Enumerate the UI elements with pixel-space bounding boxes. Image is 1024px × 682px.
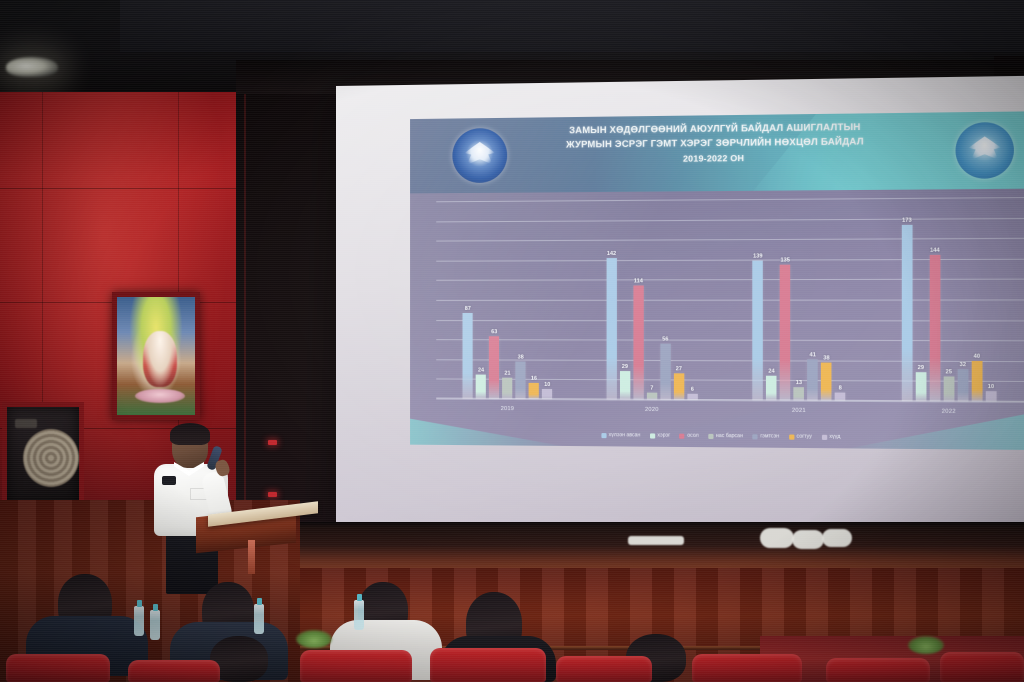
chart-bar-fill [674,373,684,400]
chart-bar-value: 10 [544,382,550,388]
chart-legend-item: согтуу [789,433,812,439]
chart-bar-value: 142 [607,251,616,257]
podium-stem [248,540,255,574]
stage-item-bag [822,529,852,547]
police-emblem-icon [452,128,507,183]
chart-bar-value: 6 [691,387,694,393]
chart-bar: 144 [929,198,940,402]
chart-bar: 27 [674,200,684,400]
chart-bar: 29 [915,198,926,402]
chart-bar-value: 7 [650,386,653,392]
indicator-led [268,440,277,445]
chart-legend-swatch [601,433,606,438]
ceiling-beam [120,0,1024,52]
chart-bar-groups: 8724632138161020191422911475627620201392… [436,197,1024,402]
thangka-deity-figure [143,331,177,387]
chart-legend-swatch [789,434,794,439]
chart-bar-fill [821,362,832,400]
water-bottle [150,610,160,640]
audience-chair [556,656,652,682]
chart-bar-value: 144 [930,247,940,253]
slide-decor-wedge-left [410,408,562,445]
chart-bar-fill [476,375,486,399]
chart-bar-value: 139 [753,253,762,259]
audience-chair [940,652,1024,682]
chart-legend-swatch [679,433,684,438]
chart-bar-value: 56 [662,337,668,343]
chart-bar: 7 [647,200,657,400]
chart-bar-value: 41 [809,352,815,358]
chart-legend-label: гэмтсэн [760,433,779,439]
chart-legend-swatch [708,433,713,438]
chart-bar: 135 [780,199,791,401]
audience-chair [6,654,110,682]
chart-bar-value: 21 [504,371,510,377]
chart-legend-item: хэрэг [650,432,670,438]
chart-bar: 40 [971,197,982,401]
presentation-slide: ЗАМЫН ХӨДӨЛГӨӨНИЙ АЮУЛГҮЙ БАЙДАЛ АШИГЛАЛ… [410,111,1024,450]
chart-bar-fill [971,361,982,402]
chart-x-tick-label: 2022 [942,409,956,415]
chart-bar-value: 8 [839,385,842,391]
chart-bar-fill [753,260,764,400]
chart-bar-value: 10 [988,384,994,390]
chart-legend-item: нас барсан [708,433,743,439]
chart-bar: 38 [516,201,526,399]
state-emblem-icon [956,122,1014,179]
slide-title-line-1: ЗАМЫН ХӨДӨЛГӨӨНИЙ АЮУЛГҮЙ БАЙДАЛ АШИГЛАЛ… [569,122,860,136]
chart-bar-value: 40 [974,353,980,359]
thangka-lotus-base [135,389,185,403]
chart-legend-item: гэмтсэн [752,433,779,439]
chart-legend-swatch [752,434,757,439]
eagle-icon [465,142,495,169]
wall-lamp [6,57,58,77]
audience-chair [128,660,220,682]
chart-bar: 87 [463,201,473,399]
chart-plot-area: 8724632138161020191422911475627620201392… [436,197,1024,402]
stage-item-paper [628,536,684,545]
chart-bar: 24 [476,201,486,399]
chart-bar-fill [529,383,539,399]
chart-bar: 16 [529,201,539,400]
chart-bar-fill [633,286,643,400]
chart-bar-value: 114 [634,279,643,285]
chart-bar-fill [463,313,473,399]
chart-group-2019: 872463213816102019 [463,200,553,399]
chart-bar-value: 38 [518,354,524,360]
water-bottle [134,606,144,636]
chart-bar-fill [902,225,913,401]
chart-bar-fill [766,376,777,400]
conference-hall-scene: ЗАМЫН ХӨДӨЛГӨӨНИЙ АЮУЛГҮЙ БАЙДАЛ АШИГЛАЛ… [0,0,1024,682]
chart-bar-fill [929,255,940,402]
chart-bar: 21 [502,201,512,399]
chart-bar: 29 [620,200,630,400]
chart-bar: 38 [821,198,832,400]
table-plant [908,636,944,654]
stage-item-bag [792,530,824,549]
chart-bar-value: 173 [902,218,912,224]
water-bottle [254,604,264,634]
chart-bar: 10 [542,200,552,399]
chart-bar-value: 24 [768,369,774,375]
chart-bar-fill [957,369,968,402]
chart-bar-fill [807,359,818,400]
chart-group-2021: 1392413513413882021 [753,198,846,400]
chart-bar-value: 29 [622,364,628,370]
presenter-epaulette [162,476,176,485]
chart-legend-swatch [650,433,655,438]
chart-bar: 63 [489,201,499,399]
chart-bar: 25 [943,198,954,402]
chart-bar-value: 25 [946,369,952,375]
chart-bar: 13 [794,199,805,401]
slide-title: ЗАМЫН ХӨДӨЛГӨӨНИЙ АЮУЛГҮЙ БАЙДАЛ АШИГЛАЛ… [507,120,925,168]
chart-bar-fill [502,378,512,399]
chart-bar-value: 24 [478,368,484,374]
chart-bar-value: 29 [918,365,924,371]
chart-bar-value: 13 [796,380,802,386]
chart-legend-item: хүүд [821,434,840,440]
slide-decor-wedge-right [848,399,1024,450]
chart-bar-value: 32 [960,362,966,368]
stage-item-bag [760,528,794,548]
audience-chair [826,658,930,682]
slide-title-line-2: ЖУРМЫН ЭСРЭГ ГЭМТ ХЭРЭГ ЗӨРЧЛИЙН НӨХЦӨЛ … [566,136,864,149]
chart-x-tick-label: 2020 [645,407,659,413]
chart-x-tick-label: 2019 [501,406,514,412]
chart-group-2020: 142291147562762020 [606,199,697,400]
chart-bar: 32 [957,197,968,401]
chart-legend-label: согтуу [797,434,812,440]
chart-x-tick-label: 2021 [792,408,806,414]
chart-bar: 10 [985,197,996,401]
chart-bar: 139 [753,199,764,400]
chart-bar-fill [516,361,526,399]
fire-hose-cabinet [2,402,84,510]
chart-legend-item: хүлээн авсан [601,432,640,438]
chart-bar: 56 [660,200,670,400]
chart-bar-value: 38 [823,355,829,361]
table-plant [296,630,332,648]
chart-bar: 8 [835,198,846,400]
thangka-painting [112,292,200,420]
chart-bar: 142 [606,200,616,400]
chart-bar-fill [943,376,954,402]
chart-legend-label: хүүд [829,434,840,440]
chart-legend-swatch [821,434,826,439]
presenter-speaker [148,426,258,592]
chart-legend-label: нас барсан [716,433,743,439]
chart-legend-item: осол [679,433,698,439]
chart-bar-fill [780,264,791,400]
chart-legend-label: хүлээн авсан [609,432,641,438]
chart-bar: 6 [687,199,697,400]
chart-bar: 24 [766,199,777,401]
projection-screen: ЗАМЫН ХӨДӨЛГӨӨНИЙ АЮУЛГҮЙ БАЙДАЛ АШИГЛАЛ… [336,75,1024,548]
water-bottle [354,600,364,630]
audience-chair [430,648,546,682]
chart-bar-fill [489,337,499,399]
chart-bar-value: 135 [780,257,789,263]
chart-bar: 173 [902,198,913,401]
chart-group-2022: 17329144253240102022 [902,197,997,401]
chart-bar-fill [660,344,670,400]
audience-chair [692,654,802,682]
chart-bar-value: 16 [531,376,537,382]
chart-bar: 41 [807,199,818,401]
chart-legend-label: осол [687,433,698,439]
chart-bar: 114 [633,200,643,400]
chart-bar-value: 87 [465,306,471,312]
chart-bar-value: 27 [676,366,682,372]
fire-hose-nozzle [15,419,37,428]
indicator-led [268,492,277,497]
chart-bar-fill [915,372,926,402]
chart-legend-label: хэрэг [657,432,670,438]
chart-bar-fill [620,371,630,400]
presenter-hair [170,423,210,445]
soyombo-icon [968,136,1000,163]
chart-bar-fill [606,258,616,400]
fire-hose-coil [23,429,79,487]
audience-chair [300,650,412,682]
chart-bar-value: 63 [491,329,497,335]
